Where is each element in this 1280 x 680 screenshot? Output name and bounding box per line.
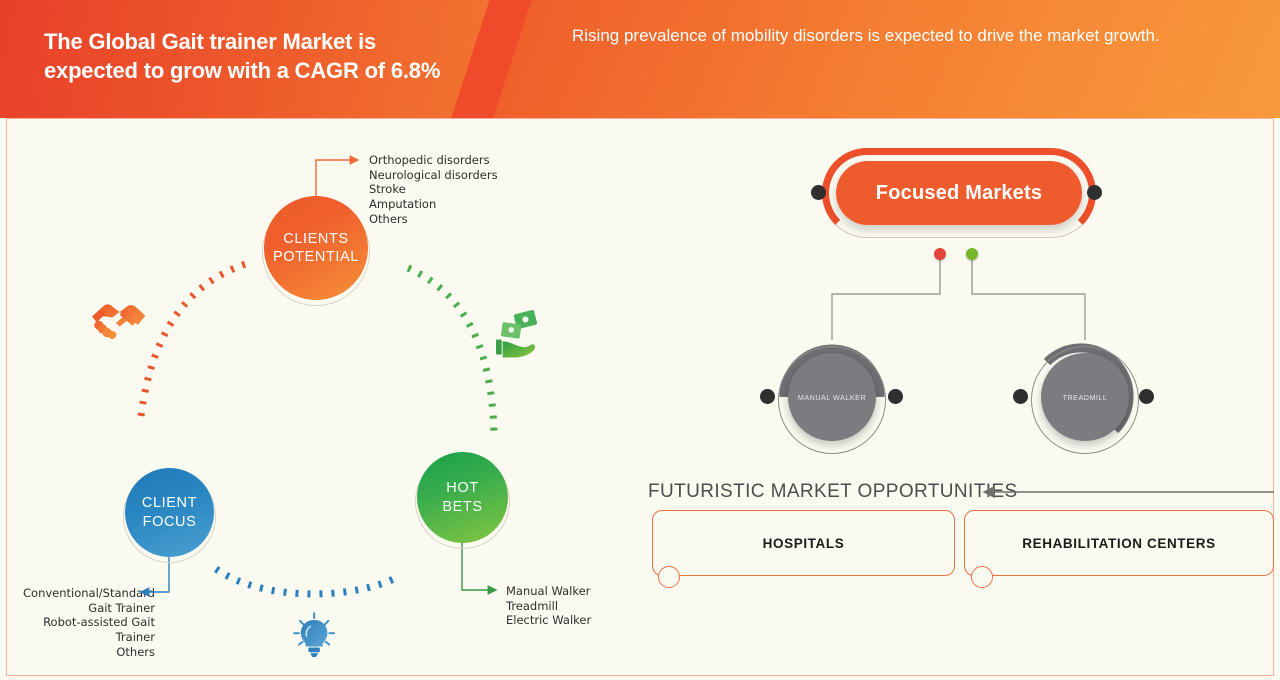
focused-markets-right-dot-icon [1087,185,1102,200]
list-item: Neurological disorders [369,168,529,183]
gauge-manual-right-dot-icon [888,389,903,404]
hot-bets-list: Manual Walker Treadmill Electric Walker [506,584,656,628]
gauge-treadmill-label: TREADMILL [1063,393,1108,402]
futuristic-opportunities-title: FUTURISTIC MARKET OPPORTUNITIES [648,481,1018,503]
clients-potential-node[interactable]: CLIENTS POTENTIAL [264,196,368,300]
list-item: Treadmill [506,599,656,614]
opportunity-knob-rehabilitation [971,566,993,588]
opportunity-box-rehabilitation[interactable]: REHABILITATION CENTERS [964,510,1274,576]
list-item: Others [5,645,155,660]
client-focus-node[interactable]: CLIENT FOCUS [125,468,214,557]
list-item: Amputation [369,197,529,212]
focused-markets-pill[interactable]: Focused Markets [836,161,1082,225]
hot-bets-label: HOT BETS [442,479,482,515]
clients-potential-label: CLIENTS POTENTIAL [273,230,359,266]
list-item: Manual Walker [506,584,656,599]
opportunity-box-hospitals[interactable]: HOSPITALS [652,510,955,576]
list-item: Conventional/Standard Gait Trainer [5,586,155,615]
gauge-manual-walker[interactable]: MANUAL WALKER [772,337,892,457]
gauge-manual-left-dot-icon [760,389,775,404]
gauge-treadmill-left-dot-icon [1013,389,1028,404]
client-focus-list: Conventional/Standard Gait Trainer Robot… [5,586,155,660]
client-focus-label: CLIENT FOCUS [142,494,197,530]
infographic-page: The Global Gait trainer Market is expect… [0,0,1280,680]
opportunity-label-hospitals: HOSPITALS [763,536,845,551]
hot-bets-node[interactable]: HOT BETS [417,452,508,543]
focused-markets-label: Focused Markets [876,182,1042,205]
opportunity-label-rehabilitation: REHABILITATION CENTERS [1022,536,1215,551]
green-status-dot [966,248,978,260]
gauge-treadmill-right-dot-icon [1139,389,1154,404]
list-item: Stroke [369,182,529,197]
red-status-dot [934,248,946,260]
clients-potential-list: Orthopedic disorders Neurological disord… [369,153,529,227]
focused-markets-left-dot-icon [811,185,826,200]
gauge-core: MANUAL WALKER [788,353,876,441]
gauge-manual-walker-label: MANUAL WALKER [798,393,866,402]
list-item: Orthopedic disorders [369,153,529,168]
header-gradient-right [491,0,1280,118]
list-item: Robot-assisted Gait Trainer [5,615,155,644]
list-item: Others [369,212,529,227]
gauge-core: TREADMILL [1041,353,1129,441]
header-subtitle: Rising prevalence of mobility disorders … [572,24,1212,48]
header-title: The Global Gait trainer Market is expect… [44,27,474,85]
list-item: Electric Walker [506,613,656,628]
gauge-treadmill[interactable]: TREADMILL [1025,337,1145,457]
header-banner: The Global Gait trainer Market is expect… [0,0,1280,118]
opportunity-knob-hospitals [658,566,680,588]
